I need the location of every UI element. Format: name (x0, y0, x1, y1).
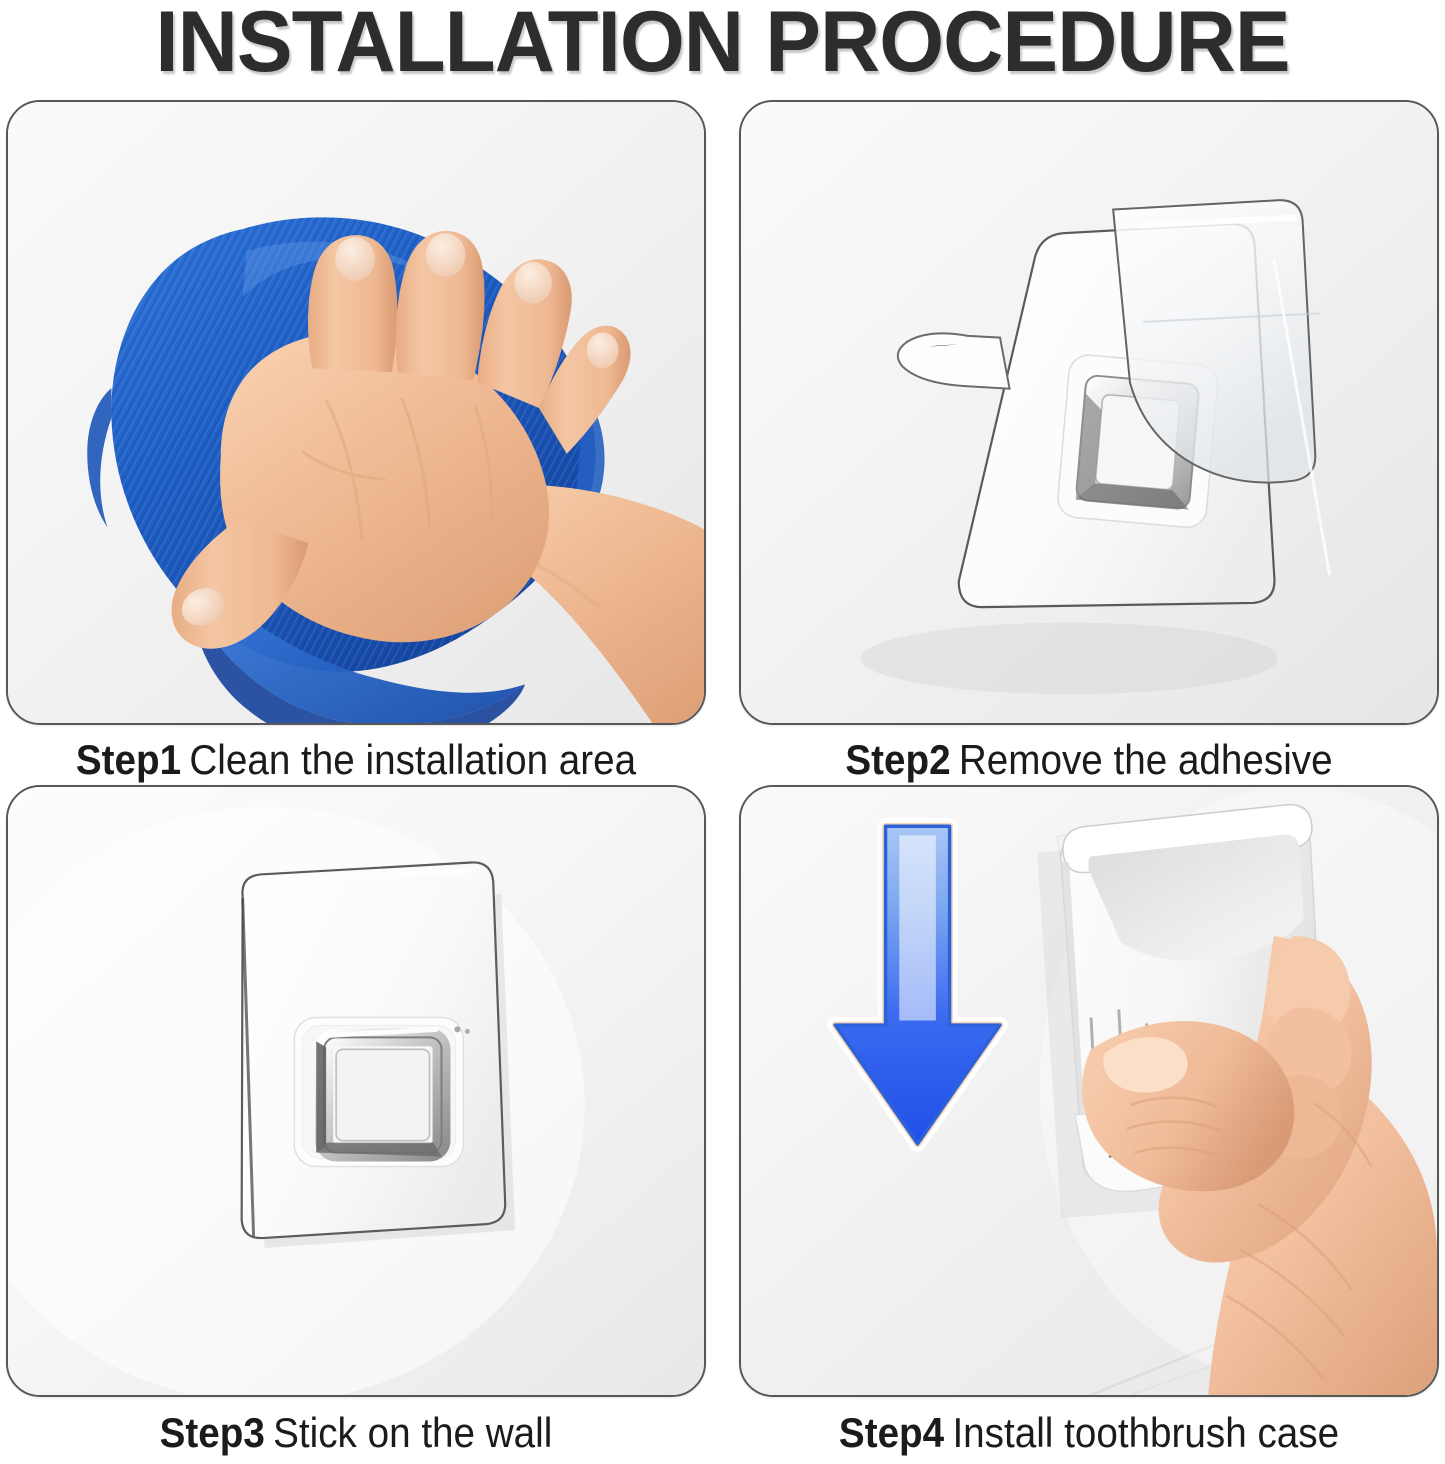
finger (308, 235, 397, 372)
square-hook-ring (316, 1026, 470, 1156)
step-card-2: Step2Remove the adhesive (739, 100, 1439, 792)
installation-procedure-page: INSTALLATION PROCEDURE (0, 0, 1445, 1464)
step-4-image-panel (739, 785, 1439, 1397)
page-title: INSTALLATION PROCEDURE (22, 0, 1424, 90)
step-1-image-panel (6, 100, 706, 725)
step-1-caption: Step1Clean the installation area (34, 736, 678, 784)
step-card-4: Step4Install toothbrush case (739, 785, 1439, 1464)
step-card-1: Step1Clean the installation area (6, 100, 706, 792)
steps-grid: Step1Clean the installation area (0, 100, 1445, 1464)
step-3-label: Step3 (160, 1409, 265, 1456)
pad-mounted-on-wall-illustration (8, 787, 704, 1395)
step-4-text: Install toothbrush case (952, 1409, 1339, 1456)
adhesive-pad-peel-illustration (741, 102, 1437, 723)
step-3-image-panel (6, 785, 706, 1397)
step-2-caption: Step2Remove the adhesive (767, 736, 1411, 784)
step-1-label: Step1 (76, 736, 181, 783)
step-2-image-panel (739, 100, 1439, 725)
step-4-label: Step4 (839, 1409, 944, 1456)
install-toothbrush-case-illustration (741, 787, 1437, 1395)
step-2-label: Step2 (845, 736, 950, 783)
step-4-caption: Step4Install toothbrush case (767, 1409, 1411, 1457)
step-3-text: Stick on the wall (273, 1409, 552, 1456)
step-1-text: Clean the installation area (189, 736, 636, 783)
step-3-caption: Step3Stick on the wall (34, 1409, 678, 1457)
step-2-text: Remove the adhesive (959, 736, 1333, 783)
hand-wiping-cloth-illustration (8, 102, 704, 723)
step-card-3: Step3Stick on the wall (6, 785, 706, 1464)
